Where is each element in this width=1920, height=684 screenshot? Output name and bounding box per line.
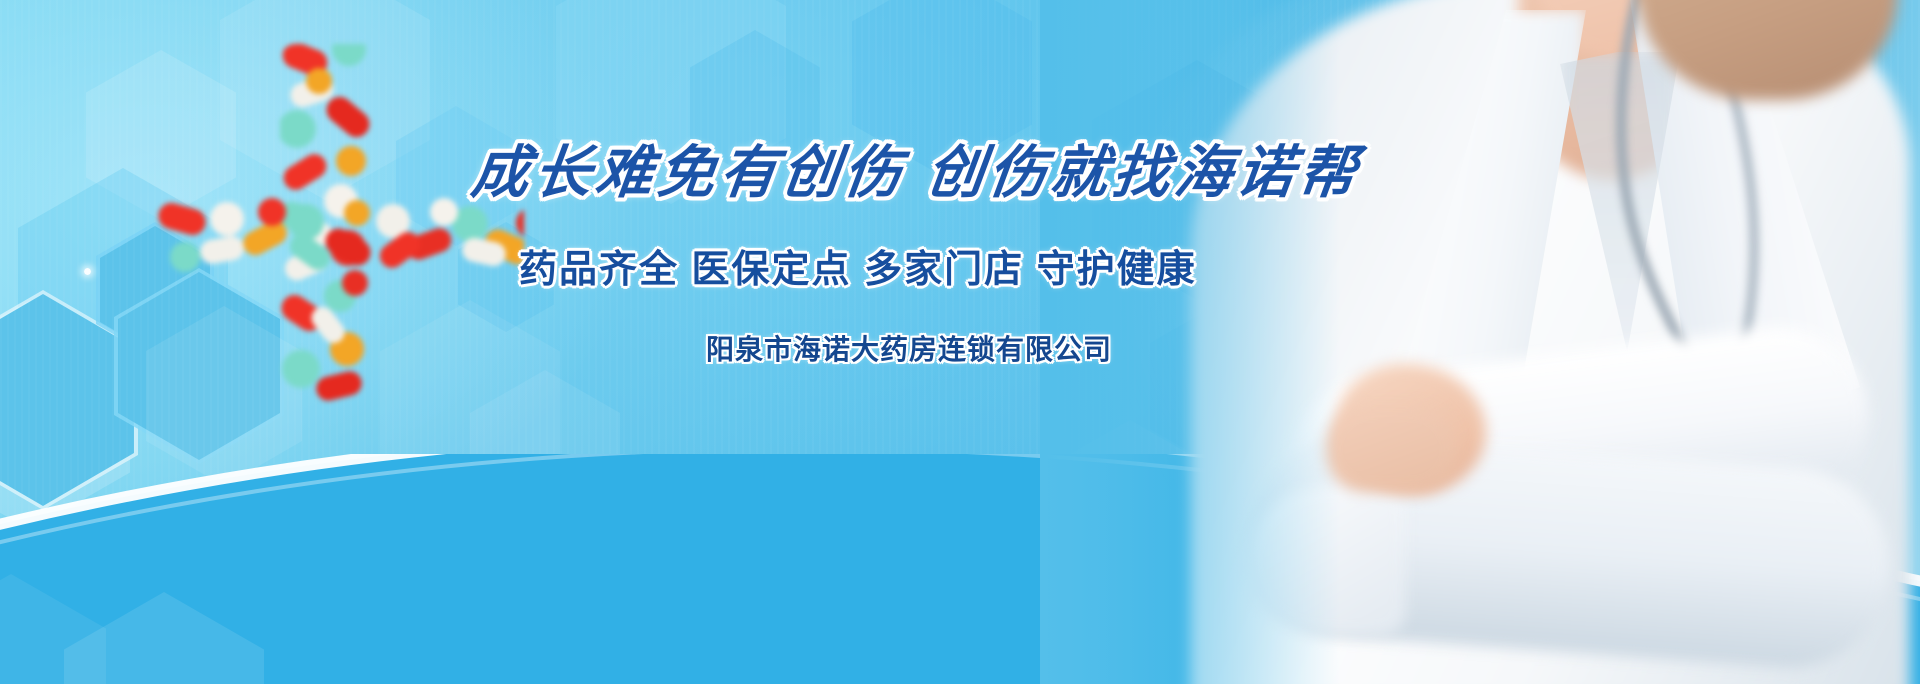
company-name-text: 阳泉市海诺大药房连锁有限公司 <box>706 336 1112 364</box>
subtitle-text: 药品齐全 医保定点 多家门店 守护健康 <box>519 251 1197 289</box>
headline-text: 成长难免有创伤 创伤就找海诺帮 <box>469 145 1365 202</box>
pill-cross-horizontal-bar <box>152 194 524 314</box>
doctor-photo <box>1040 0 1920 684</box>
doctor-fingers <box>1326 406 1456 492</box>
pharmacy-promo-banner: 成长难免有创伤 创伤就找海诺帮 药品齐全 医保定点 多家门店 守护健康 阳泉市海… <box>0 0 1920 684</box>
pill-cross-graphic <box>152 44 524 434</box>
